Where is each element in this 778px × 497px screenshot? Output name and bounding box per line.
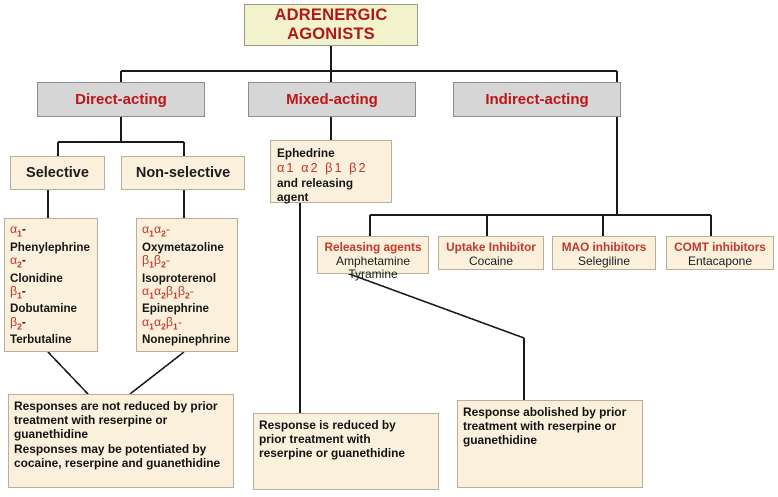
node-releasing-agents[interactable]: Releasing agents Amphetamine Tyramine: [317, 236, 429, 274]
drug-name: Nonepinephrine: [142, 333, 232, 346]
node-direct-acting-label: Direct-acting: [75, 91, 167, 108]
category-item: Amphetamine: [336, 255, 410, 269]
receptor-dash: -: [22, 316, 26, 329]
category-item: Tyramine: [348, 268, 397, 282]
ephedrine-box: Ephedrine α1 α2 β1 β2 and releasing agen…: [270, 140, 392, 203]
node-mao-inhibitors[interactable]: MAO inhibitors Selegiline: [552, 236, 656, 270]
list-item: β1- Dobutamine: [10, 285, 92, 316]
node-non-selective-label: Non-selective: [136, 165, 230, 181]
node-selective[interactable]: Selective: [10, 156, 105, 190]
list-item: α2- Clonidine: [10, 254, 92, 285]
root-title-line2: AGONISTS: [287, 25, 375, 44]
node-indirect-acting[interactable]: Indirect-acting: [453, 82, 621, 117]
drug-name: Clonidine: [10, 272, 92, 285]
diagram-canvas: ADRENERGIC AGONISTS Direct-acting Mixed-…: [0, 0, 778, 497]
node-mixed-acting-label: Mixed-acting: [286, 91, 378, 108]
ephedrine-receptors: α1 α2 β1 β2: [277, 160, 385, 176]
ephedrine-name: Ephedrine: [277, 146, 385, 160]
note-box-indirect: Response abolished by prior treatment wi…: [457, 400, 643, 488]
list-item: α1α2β1β2- Epinephrine: [142, 285, 232, 316]
note-line: guanethidine: [463, 433, 637, 447]
list-item: α1α2- Oxymetazoline: [142, 223, 232, 254]
receptor-group: α1α2β1-: [142, 315, 182, 329]
drug-name: Terbutaline: [10, 333, 92, 346]
note-line: treatment with reserpine or: [14, 413, 228, 427]
note-box-mixed: Response is reduced by prior treatment w…: [253, 413, 439, 490]
note-line: prior treatment with: [259, 432, 433, 446]
drug-name: Isoproterenol: [142, 272, 232, 285]
note-line: cocaine, reserpine and guanethidine: [14, 456, 228, 470]
note-line: Response is reduced by: [259, 418, 433, 432]
node-indirect-acting-label: Indirect-acting: [485, 91, 588, 108]
receptor-group: α1α2β1β2-: [142, 284, 194, 298]
node-comt-inhibitors[interactable]: COMT inhibitors Entacapone: [666, 236, 774, 270]
node-mixed-acting[interactable]: Mixed-acting: [248, 82, 416, 117]
category-item: Entacapone: [688, 255, 752, 269]
non-selective-drug-list: α1α2- Oxymetazoline β1β2- Isoproterenol …: [136, 218, 238, 352]
receptor-group: β1β2-: [142, 253, 170, 267]
note-line: guanethidine: [14, 427, 228, 441]
list-item: α1α2β1- Nonepinephrine: [142, 316, 232, 347]
receptor-dash: -: [22, 254, 26, 267]
category-title: MAO inhibitors: [562, 241, 647, 255]
drug-name: Dobutamine: [10, 302, 92, 315]
drug-name: Epinephrine: [142, 302, 232, 315]
receptor-dash: -: [22, 223, 26, 236]
node-non-selective[interactable]: Non-selective: [121, 156, 245, 190]
list-item: β2- Terbutaline: [10, 316, 92, 347]
category-item: Selegiline: [578, 255, 630, 269]
note-line: Responses are not reduced by prior: [14, 399, 228, 413]
root-title-line1: ADRENERGIC: [275, 6, 388, 25]
selective-drug-list: α1- Phenylephrine α2- Clonidine β1- Dobu…: [4, 218, 98, 352]
note-line: Response abolished by prior: [463, 405, 637, 419]
ephedrine-note: and releasing agent: [277, 176, 385, 204]
category-title: Uptake Inhibitor: [446, 241, 536, 255]
list-item: β1β2- Isoproterenol: [142, 254, 232, 285]
drug-name: Phenylephrine: [10, 241, 92, 254]
category-title: COMT inhibitors: [674, 241, 766, 255]
category-item: Cocaine: [469, 255, 513, 269]
node-direct-acting[interactable]: Direct-acting: [37, 82, 205, 117]
receptor-dash: -: [22, 285, 26, 298]
root-title-box: ADRENERGIC AGONISTS: [244, 4, 418, 46]
note-box-direct: Responses are not reduced by prior treat…: [8, 394, 234, 488]
note-line: treatment with reserpine or: [463, 419, 637, 433]
note-line: reserpine or guanethidine: [259, 446, 433, 460]
node-uptake-inhibitor[interactable]: Uptake Inhibitor Cocaine: [438, 236, 544, 270]
category-title: Releasing agents: [324, 241, 421, 255]
note-line: Responses may be potentiated by: [14, 442, 228, 456]
drug-name: Oxymetazoline: [142, 241, 232, 254]
receptor-group: α1α2-: [142, 222, 170, 236]
node-selective-label: Selective: [26, 165, 89, 181]
list-item: α1- Phenylephrine: [10, 223, 92, 254]
